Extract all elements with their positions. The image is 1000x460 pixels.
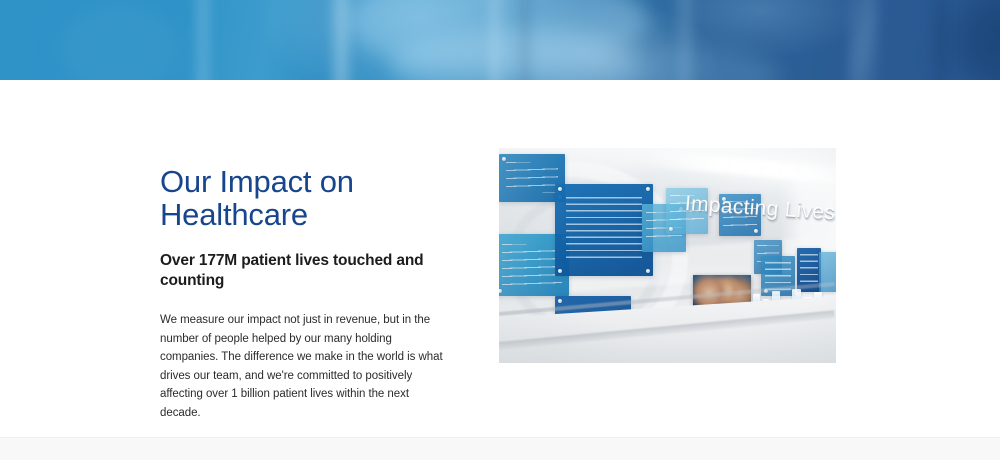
panel-stud-icon <box>722 197 726 201</box>
panel-script-text <box>506 162 559 194</box>
panel-script-text <box>723 201 757 229</box>
hero-highlight-blob <box>348 0 648 74</box>
hero-highlight-blob <box>60 4 180 80</box>
panel-stud-icon <box>502 157 506 161</box>
impact-copy-column: Our Impact on Healthcare Over 177M patie… <box>160 165 460 422</box>
panel-stud-icon <box>754 229 758 233</box>
impact-body-text: We measure our impact not just in revenu… <box>160 311 452 422</box>
panel-stud-icon <box>558 187 562 191</box>
page-root: Our Impact on Healthcare Over 177M patie… <box>0 0 1000 460</box>
panel-script-text <box>502 244 561 285</box>
hero-banner-image <box>0 0 1000 80</box>
hero-highlight-blob <box>600 46 780 80</box>
panel-stud-icon <box>558 269 562 273</box>
acrylic-panel <box>719 194 761 236</box>
impact-subheadline: Over 177M patient lives touched and coun… <box>160 251 460 291</box>
impact-section: Our Impact on Healthcare Over 177M patie… <box>0 80 1000 437</box>
footer-strip <box>0 437 1000 460</box>
acrylic-panel <box>666 188 708 234</box>
hero-banner <box>0 0 1000 80</box>
hero-fabric-fold <box>196 0 210 80</box>
panel-body-text <box>566 197 642 263</box>
hero-fabric-fold <box>520 0 530 80</box>
acrylic-panel-main <box>555 184 653 276</box>
panel-script-text <box>670 195 704 225</box>
hero-fabric-fold <box>330 0 352 80</box>
panel-stud-icon <box>646 187 650 191</box>
hero-shadow-blob <box>960 0 1000 80</box>
hero-fabric-fold <box>487 0 503 80</box>
page-title: Our Impact on Healthcare <box>160 165 460 231</box>
hero-fabric-fold <box>676 0 694 80</box>
hero-fabric-fold <box>850 0 876 80</box>
hero-highlight-blob <box>390 30 640 80</box>
panel-stud-icon <box>499 289 502 293</box>
hero-fabric-fold <box>930 0 950 80</box>
panel-stud-icon <box>558 299 562 303</box>
panel-stud-icon <box>669 227 673 231</box>
impact-wall-photo: Impacting Lives <box>499 148 836 363</box>
panel-stud-icon <box>646 269 650 273</box>
